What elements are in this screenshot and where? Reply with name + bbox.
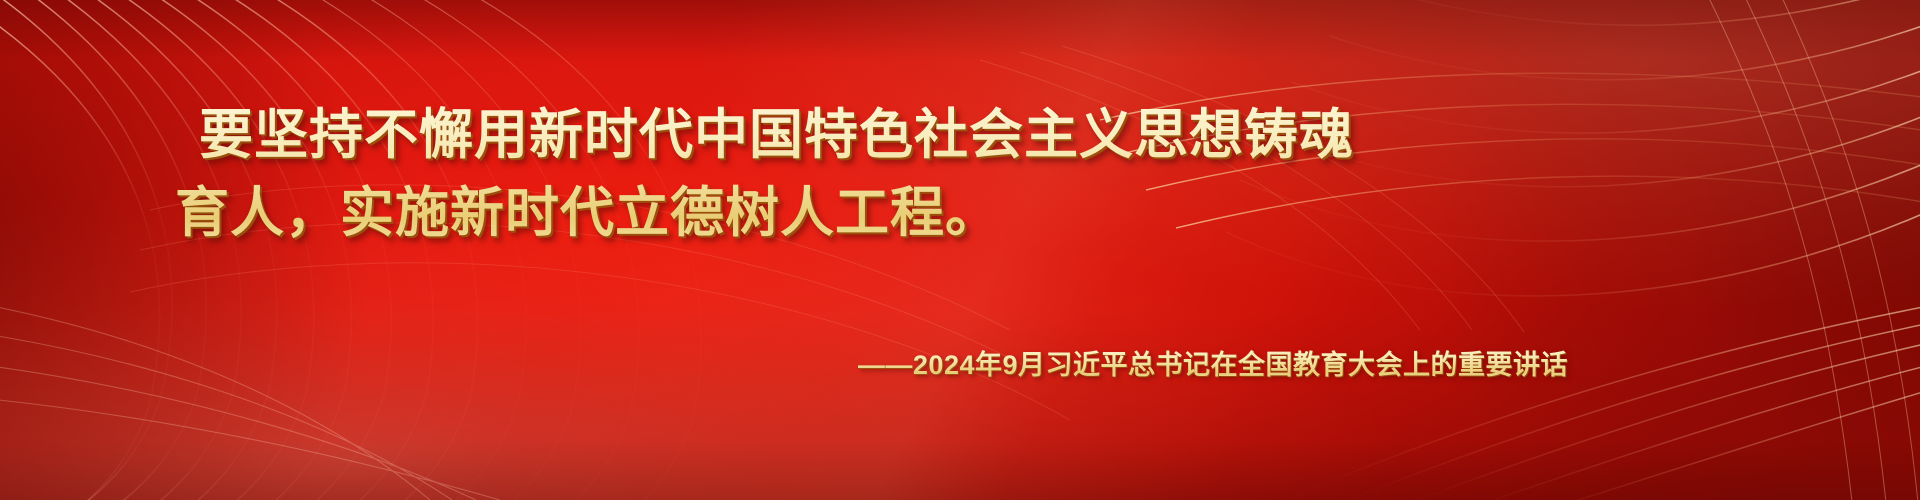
banner-attribution: ——2024年9月习近平总书记在全国教育大会上的重要讲话 <box>858 348 1568 382</box>
headline-line-2: 育人，实施新时代立德树人工程。 <box>175 174 1750 252</box>
headline-line-1: 要坚持不懈用新时代中国特色社会主义思想铸魂 <box>175 96 1750 174</box>
propaganda-banner: 要坚持不懈用新时代中国特色社会主义思想铸魂 育人，实施新时代立德树人工程。 ——… <box>0 0 1920 500</box>
banner-content: 要坚持不懈用新时代中国特色社会主义思想铸魂 育人，实施新时代立德树人工程。 ——… <box>0 0 1920 500</box>
banner-headline: 要坚持不懈用新时代中国特色社会主义思想铸魂 育人，实施新时代立德树人工程。 <box>0 96 1920 252</box>
